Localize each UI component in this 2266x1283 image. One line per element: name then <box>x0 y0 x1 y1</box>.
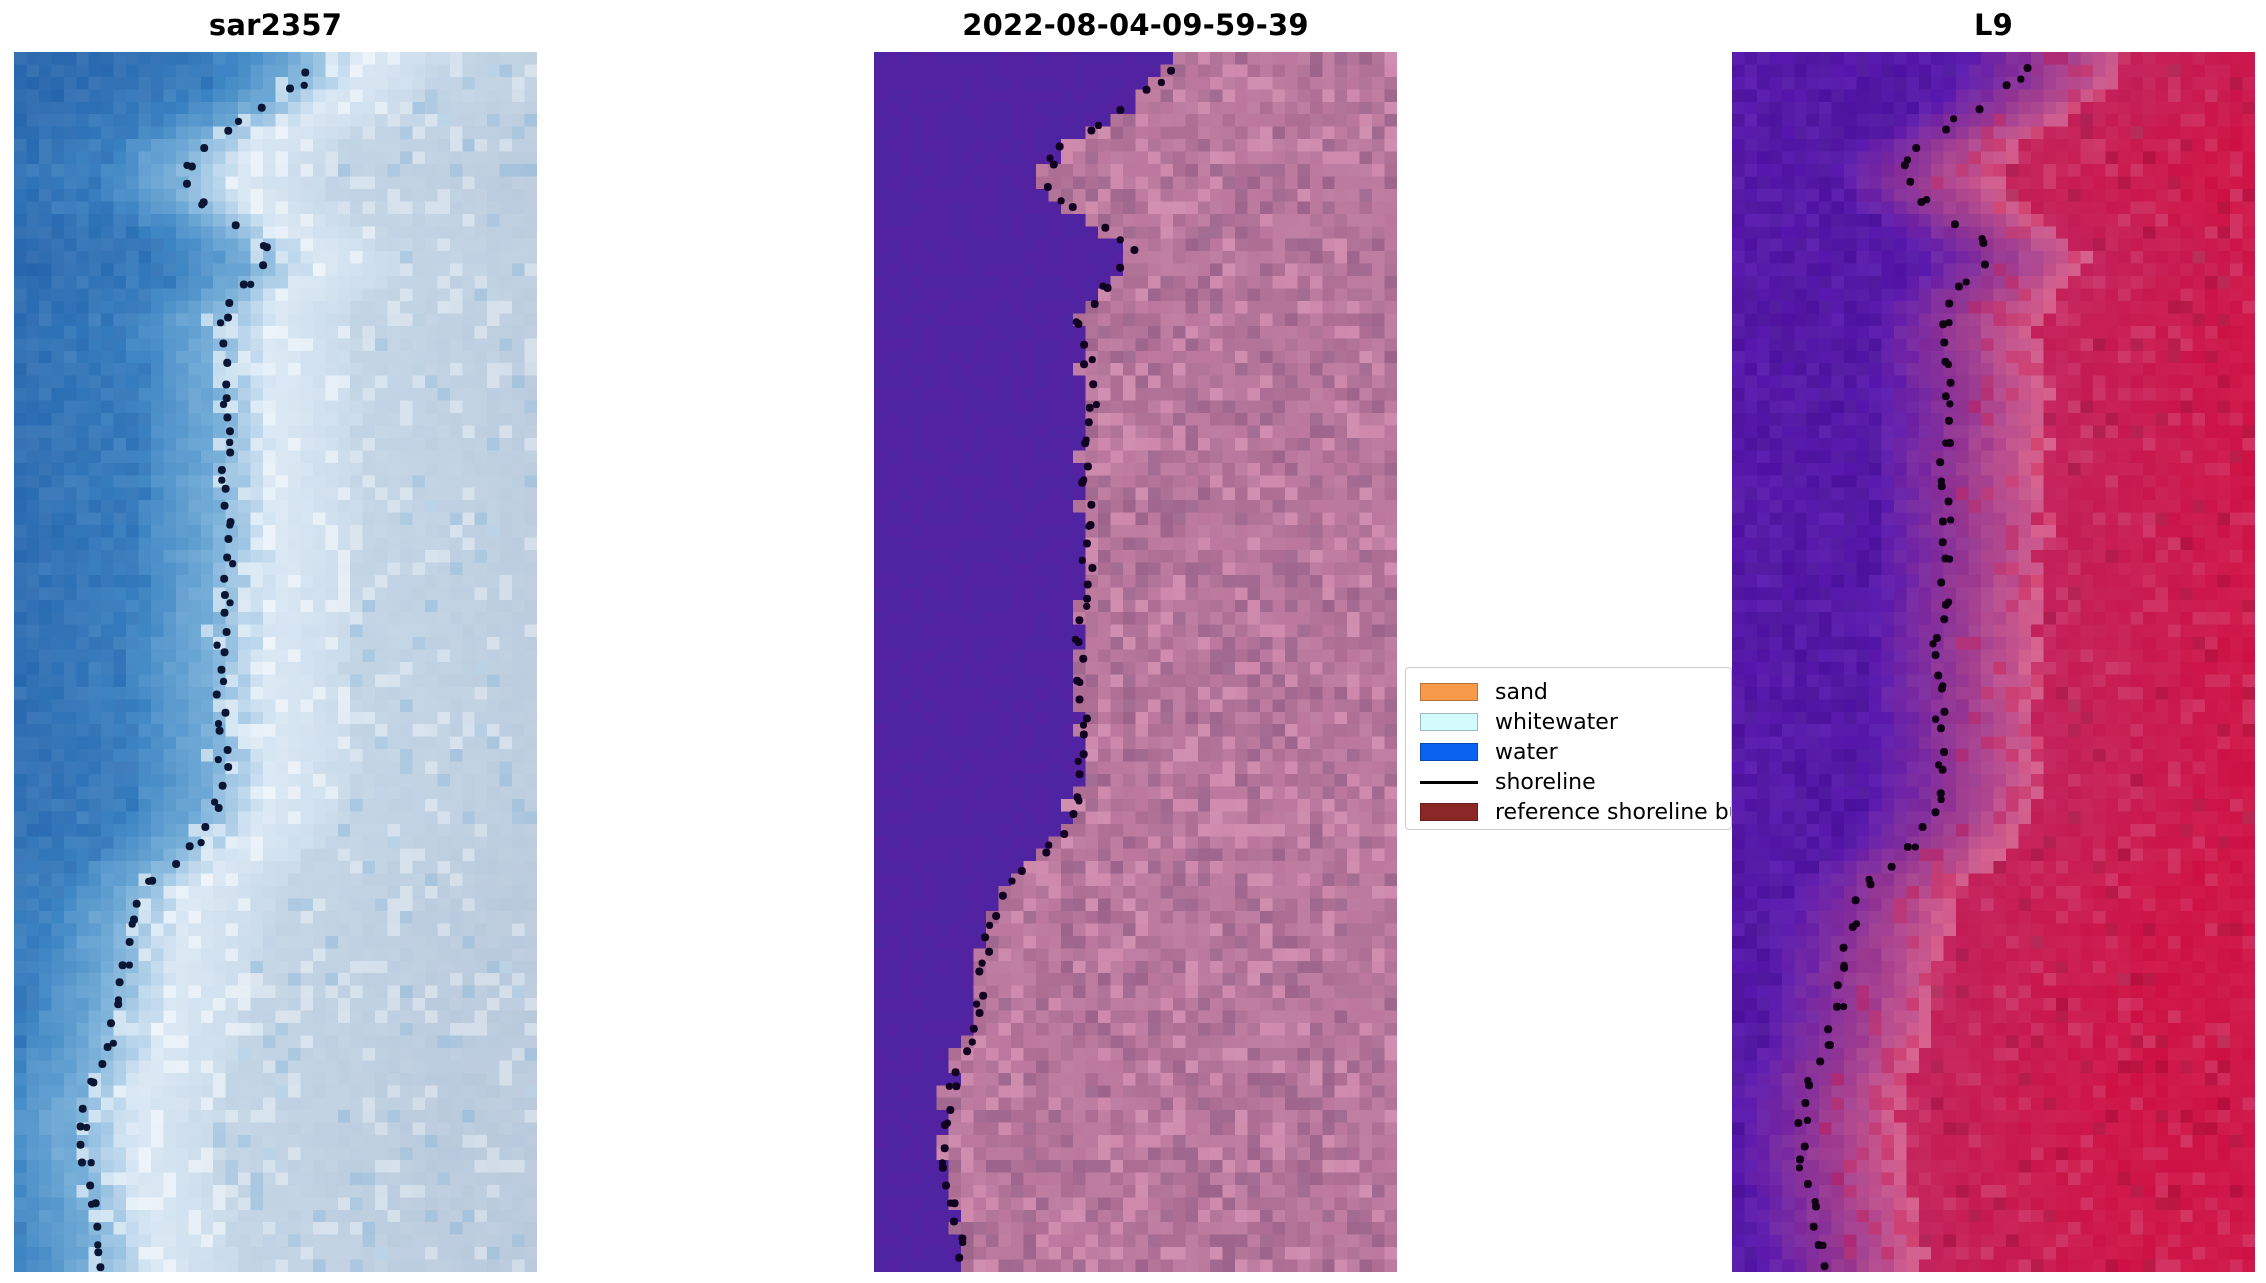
image-panel-sar[interactable] <box>14 52 537 1272</box>
legend-swatch-line-icon <box>1420 773 1478 791</box>
shoreline-overlay <box>1732 52 2255 1272</box>
panel-title-l9: L9 <box>1732 8 2255 42</box>
legend-line-glyph <box>1420 781 1478 784</box>
legend-items: sandwhitewaterwatershorelinereference sh… <box>1406 668 1731 827</box>
legend-item-label: shoreline <box>1495 770 1596 795</box>
shoreline-overlay <box>874 52 1397 1272</box>
legend-item-shoreline: shoreline <box>1406 767 1731 797</box>
legend-swatch-patch-icon <box>1420 803 1478 821</box>
figure-canvas: sar2357 2022-08-04-09-59-39 L9 sandwhite… <box>0 0 2266 1283</box>
legend-swatch-patch-icon <box>1420 713 1478 731</box>
legend-item-sand: sand <box>1406 677 1731 707</box>
shoreline-overlay <box>14 52 537 1272</box>
panel-title-date: 2022-08-04-09-59-39 <box>874 8 1397 42</box>
image-panel-l9[interactable] <box>1732 52 2255 1272</box>
panel-title-sar: sar2357 <box>14 8 537 42</box>
legend-item-label: whitewater <box>1495 710 1618 735</box>
legend-swatch-patch-icon <box>1420 743 1478 761</box>
legend-item-label: water <box>1495 740 1558 765</box>
legend-item-label: sand <box>1495 680 1548 705</box>
legend-item-label: reference shoreline buffer <box>1495 800 1732 825</box>
image-panel-classified[interactable] <box>874 52 1397 1272</box>
legend-item-reference-shoreline-buffer: reference shoreline buffer <box>1406 797 1731 827</box>
legend-item-water: water <box>1406 737 1731 767</box>
legend-box: sandwhitewaterwatershorelinereference sh… <box>1405 667 1732 830</box>
legend-item-whitewater: whitewater <box>1406 707 1731 737</box>
legend-swatch-patch-icon <box>1420 683 1478 701</box>
